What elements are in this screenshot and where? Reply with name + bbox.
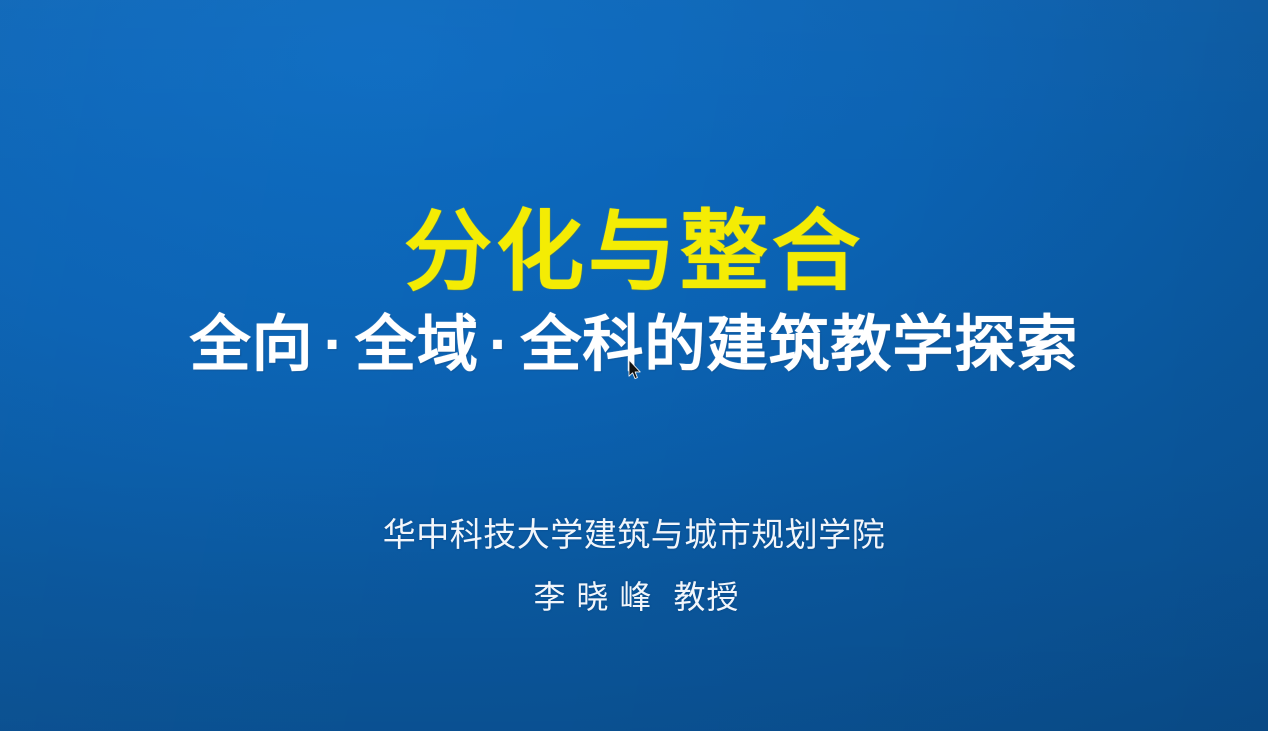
presenter-surname: 李	[528, 578, 571, 616]
subtitle-part-2: 全域	[355, 310, 479, 378]
affiliation-text: 华中科技大学建筑与城市规划学院	[0, 515, 1268, 555]
presenter-line: 李晓峰教授	[0, 578, 1268, 616]
slide-title: 分化与整合	[0, 206, 1268, 298]
subtitle-part-3: 全科的建筑教学探索	[520, 310, 1078, 378]
presenter-given-1: 晓	[571, 578, 614, 616]
presentation-slide: 分化与整合 全向·全域·全科的建筑教学探索 华中科技大学建筑与城市规划学院 李晓…	[0, 0, 1268, 731]
presenter-role: 教授	[658, 578, 740, 616]
slide-content: 分化与整合 全向·全域·全科的建筑教学探索 华中科技大学建筑与城市规划学院 李晓…	[0, 0, 1268, 731]
subtitle-part-1: 全向	[190, 310, 314, 378]
presenter-given-2: 峰	[615, 578, 658, 616]
subtitle-separator-1: ·	[314, 312, 355, 378]
subtitle-separator-2: ·	[479, 312, 520, 378]
slide-subtitle: 全向·全域·全科的建筑教学探索	[0, 312, 1268, 378]
